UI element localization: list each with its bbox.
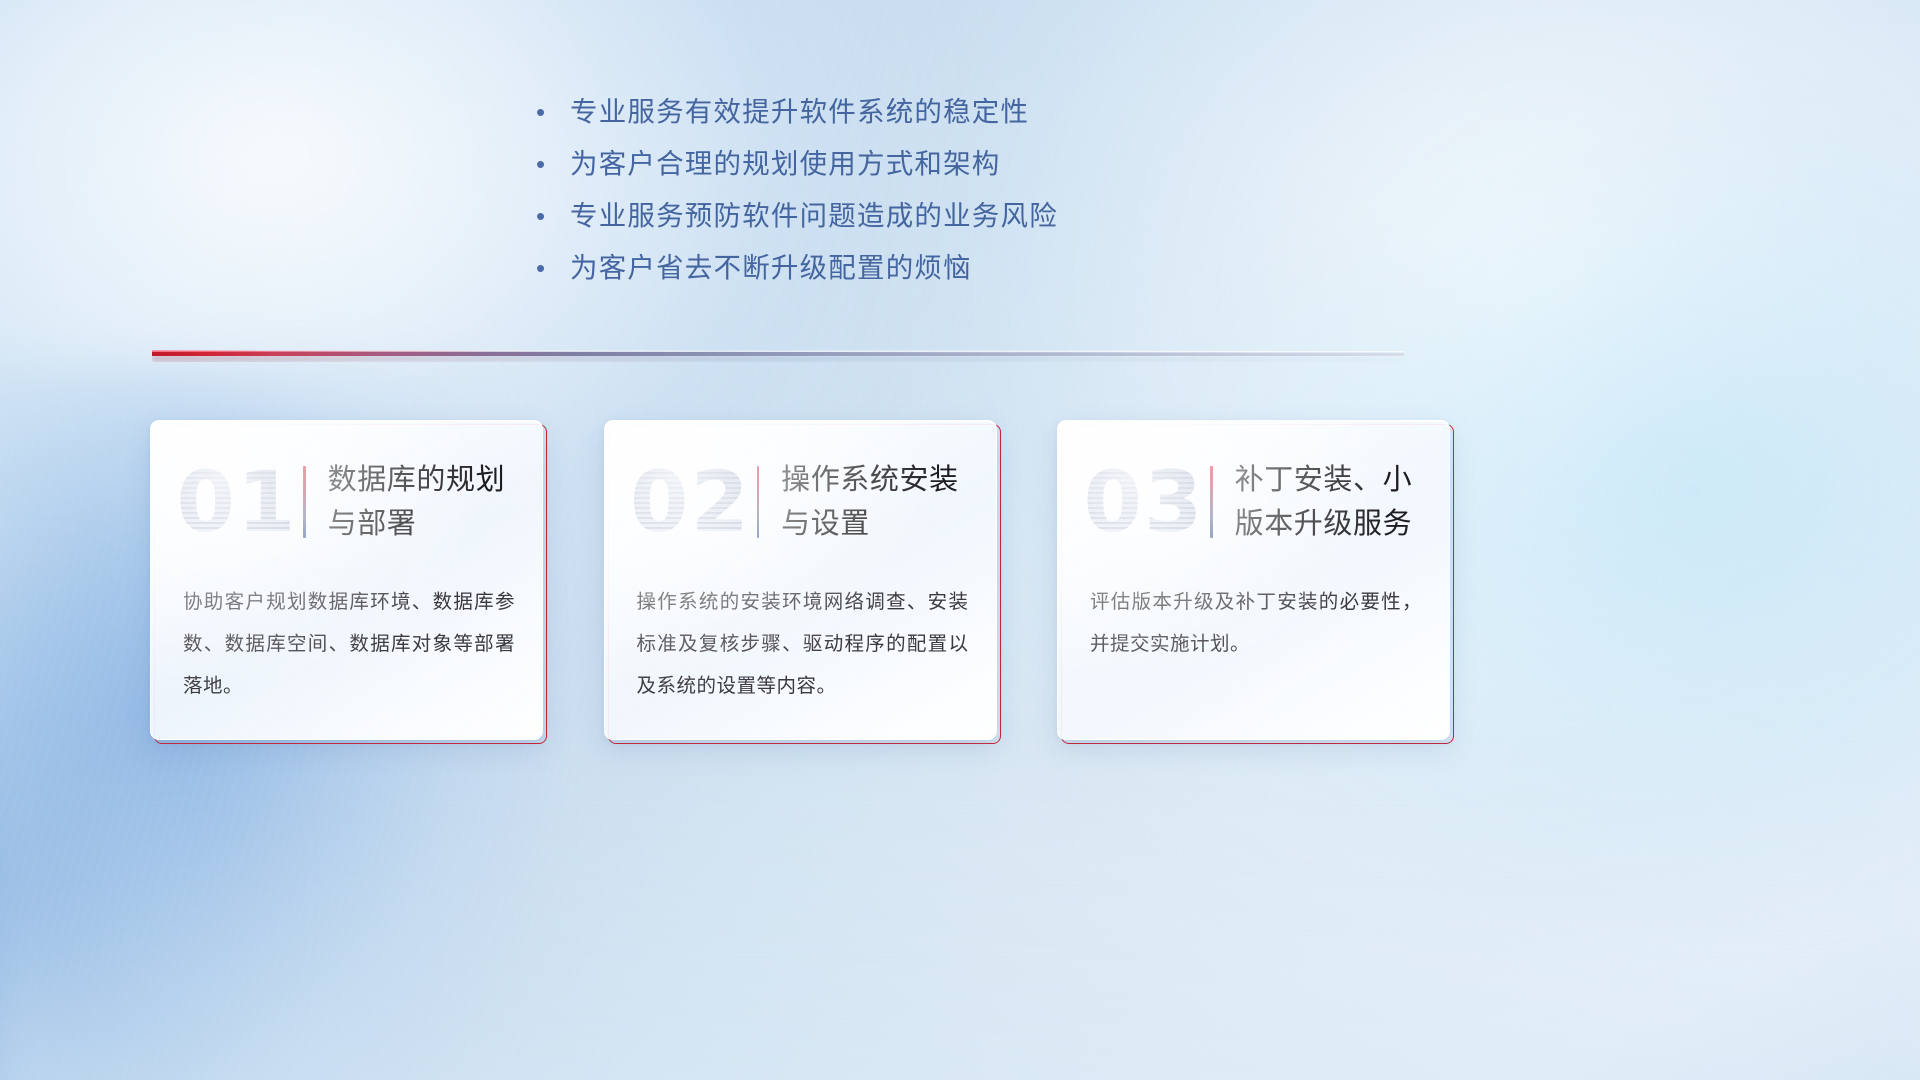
card-number-badge: 02 bbox=[627, 447, 755, 557]
card-number-badge: 03 bbox=[1080, 447, 1208, 557]
card-title: 数据库的规划与部署 bbox=[328, 458, 543, 546]
card-description: 操作系统的安装环境网络调查、安装标准及复核步骤、驱动程序的配置以及系统的设置等内… bbox=[637, 581, 969, 707]
list-item: • 为客户省去不断升级配置的烦恼 bbox=[536, 242, 1296, 294]
card-description: 评估版本升级及补丁安装的必要性，并提交实施计划。 bbox=[1090, 581, 1422, 665]
list-item: • 专业服务有效提升软件系统的稳定性 bbox=[536, 86, 1296, 138]
bullet-point-icon: • bbox=[536, 86, 570, 138]
card-surface: 03 补丁安装、小版本升级服务 评估版本升级及补丁安装的必要性，并提交实施计划。 bbox=[1057, 420, 1450, 740]
bullet-text: 为客户合理的规划使用方式和架构 bbox=[570, 138, 1001, 190]
card-number-text: 03 bbox=[1084, 447, 1205, 557]
card-header: 01 数据库的规划与部署 bbox=[151, 439, 543, 564]
card-surface: 02 操作系统安装与设置 操作系统的安装环境网络调查、安装标准及复核步骤、驱动程… bbox=[604, 420, 997, 740]
card-title: 补丁安装、小版本升级服务 bbox=[1235, 458, 1450, 546]
card-title: 操作系统安装与设置 bbox=[781, 458, 996, 546]
card-surface: 01 数据库的规划与部署 协助客户规划数据库环境、数据库参数、数据库空间、数据库… bbox=[150, 420, 543, 740]
card-description: 协助客户规划数据库环境、数据库参数、数据库空间、数据库对象等部署落地。 bbox=[183, 581, 515, 707]
service-card-03[interactable]: 03 补丁安装、小版本升级服务 评估版本升级及补丁安装的必要性，并提交实施计划。 bbox=[1057, 420, 1450, 744]
card-number-text: 02 bbox=[630, 447, 751, 557]
divider-highlight bbox=[152, 350, 1404, 352]
card-number-badge: 01 bbox=[173, 447, 301, 557]
bullet-point-icon: • bbox=[536, 190, 570, 242]
benefits-bullet-list: • 专业服务有效提升软件系统的稳定性 • 为客户合理的规划使用方式和架构 • 专… bbox=[536, 86, 1296, 294]
service-card-01[interactable]: 01 数据库的规划与部署 协助客户规划数据库环境、数据库参数、数据库空间、数据库… bbox=[150, 420, 543, 744]
card-header: 03 补丁安装、小版本升级服务 bbox=[1058, 439, 1450, 564]
bullet-text: 为客户省去不断升级配置的烦恼 bbox=[570, 242, 972, 294]
list-item: • 专业服务预防软件问题造成的业务风险 bbox=[536, 190, 1296, 242]
card-number-text: 01 bbox=[177, 447, 298, 557]
bullet-point-icon: • bbox=[536, 242, 570, 294]
bullet-point-icon: • bbox=[536, 138, 570, 190]
service-card-02[interactable]: 02 操作系统安装与设置 操作系统的安装环境网络调查、安装标准及复核步骤、驱动程… bbox=[604, 420, 997, 744]
card-header: 02 操作系统安装与设置 bbox=[605, 439, 997, 564]
service-card-group: 01 数据库的规划与部署 协助客户规划数据库环境、数据库参数、数据库空间、数据库… bbox=[150, 420, 1450, 744]
card-title-divider-icon bbox=[1210, 466, 1213, 538]
bullet-text: 专业服务预防软件问题造成的业务风险 bbox=[570, 190, 1058, 242]
card-title-divider-icon bbox=[757, 466, 760, 538]
card-title-divider-icon bbox=[303, 466, 306, 538]
divider-shadow bbox=[152, 355, 1404, 362]
bullet-text: 专业服务有效提升软件系统的稳定性 bbox=[570, 86, 1029, 138]
section-divider bbox=[152, 349, 1404, 363]
list-item: • 为客户合理的规划使用方式和架构 bbox=[536, 138, 1296, 190]
